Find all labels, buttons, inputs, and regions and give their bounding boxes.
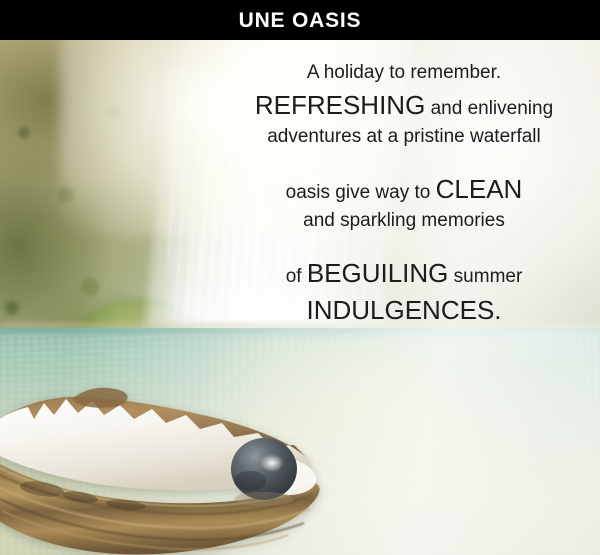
poster-banner: UNE OASIS: [0, 0, 600, 555]
copy-p1-line2-rest: and enlivening: [425, 98, 553, 119]
header-bar: UNE OASIS: [0, 0, 600, 40]
copy-p3-line1: of BEGUILING summer: [218, 255, 590, 292]
copy-p3-emphasis-indulgences: INDULGENCES.: [218, 292, 590, 329]
copy-paragraph-3: of BEGUILING summer INDULGENCES.: [218, 255, 590, 329]
copy-p2-line1: oasis give way to CLEAN: [218, 171, 590, 208]
page-title: UNE OASIS: [239, 10, 362, 31]
pearl: [231, 438, 297, 500]
marketing-copy: A holiday to remember. REFRESHING and en…: [218, 60, 590, 329]
copy-paragraph-2: oasis give way to CLEAN and sparkling me…: [218, 171, 590, 235]
copy-p3-emphasis-beguiling: BEGUILING: [307, 258, 449, 288]
copy-p3-line1-pre: of: [286, 266, 307, 287]
copy-p2-line1-rest: oasis give way to: [286, 182, 436, 203]
oyster-with-pearl: [0, 385, 336, 555]
copy-p2-line2: and sparkling memories: [218, 208, 590, 235]
pearl-shadow: [234, 492, 294, 506]
copy-p1-emphasis-refreshing: REFRESHING: [255, 90, 425, 120]
copy-paragraph-1: A holiday to remember. REFRESHING and en…: [218, 60, 590, 151]
copy-p1-line1: A holiday to remember.: [218, 60, 590, 87]
copy-p3-line1-post: summer: [448, 266, 522, 287]
copy-p2-emphasis-clean: CLEAN: [436, 174, 523, 204]
copy-p1-line2: REFRESHING and enlivening: [218, 87, 590, 124]
copy-p1-line3: adventures at a pristine waterfall: [218, 124, 590, 151]
